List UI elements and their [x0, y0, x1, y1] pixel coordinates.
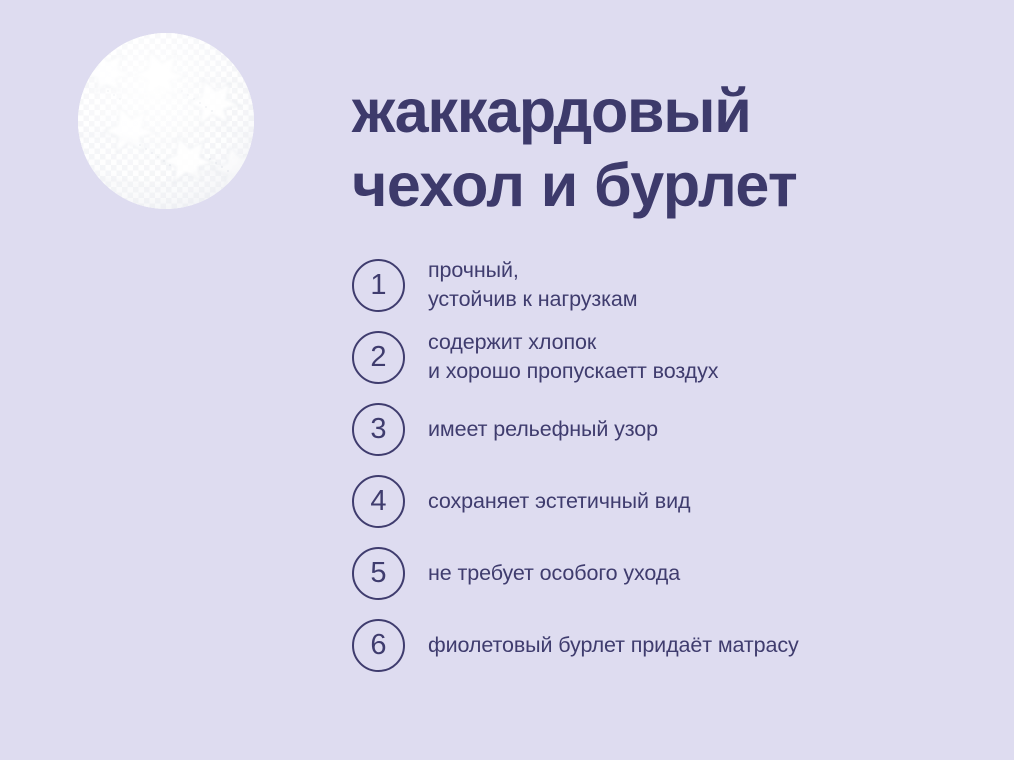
page-title: жаккардовый чехол и бурлет — [352, 74, 992, 222]
list-item: 5 не требует особого ухода — [352, 537, 972, 609]
list-item-label: сохраняет эстетичный вид — [428, 487, 972, 516]
list-item-label: не требует особого ухода — [428, 559, 972, 588]
list-item-label: фиолетовый бурлет придаёт матрасу — [428, 631, 972, 660]
list-item: 1 прочный, устойчив к нагрузкам — [352, 249, 972, 321]
list-item: 4 сохраняет эстетичный вид — [352, 465, 972, 537]
list-item: 6 фиолетовый бурлет придаёт матрасу — [352, 609, 972, 681]
list-item-number-badge: 3 — [352, 403, 405, 456]
page-title-line-1: жаккардовый — [352, 74, 992, 148]
list-item: 3 имеет рельефный узор — [352, 393, 972, 465]
list-item: 2 содержит хлопок и хорошо пропускаетт в… — [352, 321, 972, 393]
list-item-number-badge: 2 — [352, 331, 405, 384]
list-item-number-badge: 1 — [352, 259, 405, 312]
feature-list: 1 прочный, устойчив к нагрузкам 2 содерж… — [352, 249, 972, 681]
list-item-label: прочный, устойчив к нагрузкам — [428, 256, 972, 314]
list-item-number-badge: 6 — [352, 619, 405, 672]
slide-root: жаккардовый чехол и бурлет 1 прочный, ус… — [0, 0, 1014, 760]
list-item-label: содержит хлопок и хорошо пропускаетт воз… — [428, 328, 972, 386]
page-title-line-2: чехол и бурлет — [352, 148, 992, 222]
list-item-number-badge: 4 — [352, 475, 405, 528]
list-item-number-badge: 5 — [352, 547, 405, 600]
list-item-label: имеет рельефный узор — [428, 415, 972, 444]
fabric-swatch-image — [78, 33, 254, 209]
